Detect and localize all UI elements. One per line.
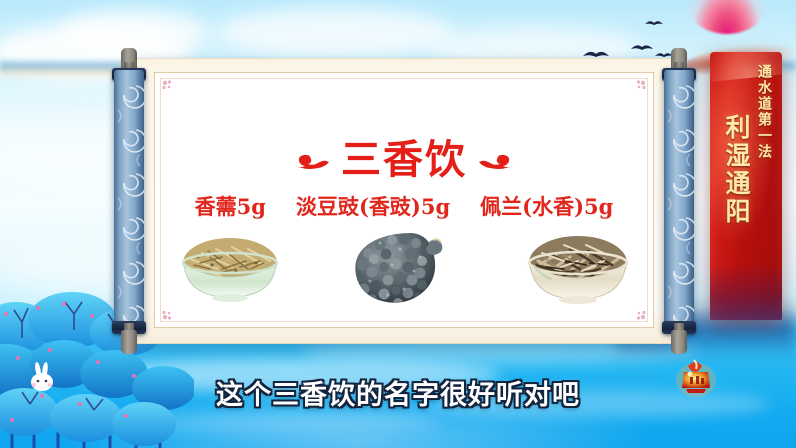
ingredient-label: 香薷5g (195, 191, 266, 221)
ingredient-label: 淡豆豉(香豉)5g (296, 191, 450, 221)
scroll-roller-left[interactable] (112, 48, 146, 354)
corner-flower-icon (633, 79, 647, 93)
ingredient-image (508, 223, 648, 319)
ingredient-label-row: 香薷5g 淡豆豉(香豉)5g 佩兰(水香)5g (183, 191, 625, 221)
scroll-paper: 三香饮 香薷5g 淡豆豉(香豉)5g 佩兰(水香)5g (134, 58, 674, 344)
roller-body (114, 70, 144, 332)
ingredient-label: 佩兰(水香)5g (480, 191, 613, 221)
bowl-dandouchi-icon (334, 223, 474, 319)
bowl-xiangru-icon (160, 223, 300, 319)
bowl-peilan-icon (508, 223, 648, 319)
roller-finial (121, 330, 137, 354)
ingredient-image (334, 223, 474, 319)
scroll-panel: 三香饮 香薷5g 淡豆豉(香豉)5g 佩兰(水香)5g (112, 48, 696, 354)
banner-headline: 利湿通阳 (718, 114, 754, 226)
subtitle-caption: 这个三香饮的名字很好听对吧 (0, 372, 796, 412)
scroll-roller-right[interactable] (662, 48, 696, 354)
banner-text-wrap: 利湿通阳 通水道第一法 (710, 52, 782, 320)
banner-subhead: 通水道第一法 (754, 64, 774, 160)
ingredient-image-row (183, 223, 625, 323)
roller-swirl-pattern (664, 70, 694, 332)
cloud-swirl-icon (477, 149, 517, 171)
video-frame: 三香饮 香薷5g 淡豆豉(香豉)5g 佩兰(水香)5g (0, 0, 796, 448)
recipe-title: 三香饮 (341, 140, 467, 180)
cloud-swirl-icon (291, 149, 331, 171)
side-banner: 利湿通阳 通水道第一法 (710, 52, 782, 320)
roller-finial (671, 330, 687, 354)
corner-flower-icon (161, 79, 175, 93)
recipe-title-row: 三香饮 (155, 135, 653, 185)
paper-inner-frame: 三香饮 香薷5g 淡豆豉(香豉)5g 佩兰(水香)5g (154, 72, 654, 328)
roller-body (664, 70, 694, 332)
roller-swirl-pattern (114, 70, 144, 332)
ingredient-image (160, 223, 300, 319)
